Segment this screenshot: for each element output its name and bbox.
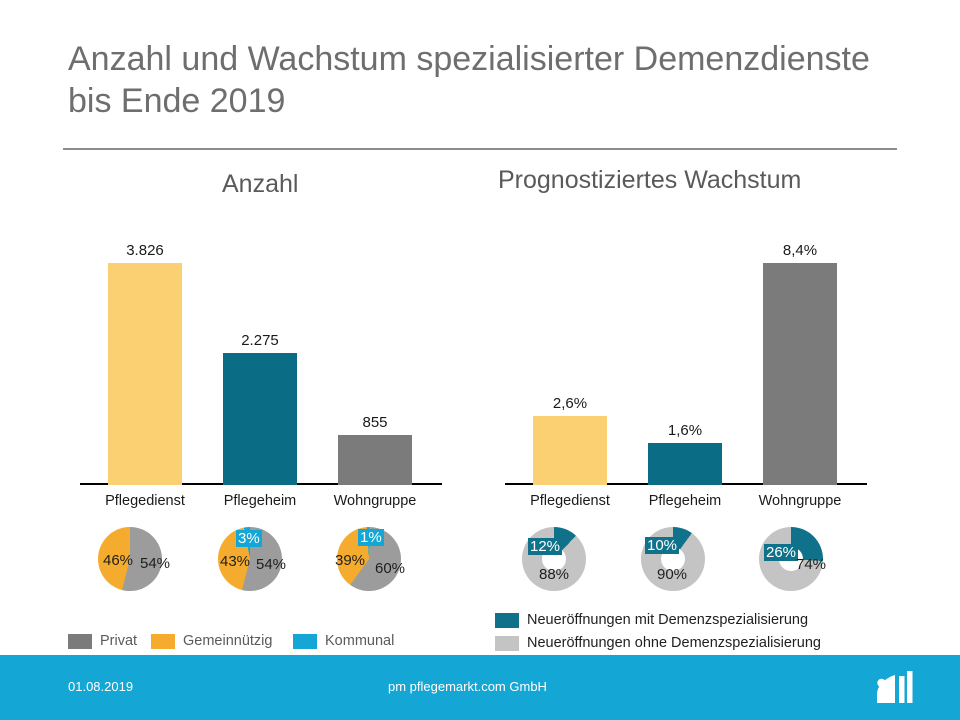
donut-label-mit-spezialisierung: 12%: [528, 538, 562, 555]
donut-label-mit-spezialisierung: 26%: [764, 544, 798, 561]
donut-label-ohne-spezialisierung: 88%: [539, 566, 569, 583]
legend-item-gemeinnuetzig[interactable]: Gemeinnützig: [151, 633, 272, 649]
chart-heading-wachstum: Prognostiziertes Wachstum: [498, 166, 801, 195]
title-divider: [63, 148, 897, 150]
bar-wohngruppe-growth[interactable]: 8,4%: [763, 215, 837, 485]
footer-company: pm pflegemarkt.com GmbH: [388, 679, 547, 694]
legend-item-mit-spezialisierung[interactable]: Neueröffnungen mit Demenzspezialisierung: [495, 612, 808, 628]
legend-label-gemeinnuetzig: Gemeinnützig: [183, 633, 272, 649]
bar-pflegedienst[interactable]: 3.826: [108, 215, 182, 485]
pie-label-privat: 60%: [375, 560, 405, 577]
bar-value-label: 3.826: [85, 242, 205, 259]
category-label-wohngruppe: Wohngruppe: [300, 493, 450, 509]
footer-date: 01.08.2019: [68, 679, 133, 694]
pie-label-privat: 54%: [140, 555, 170, 572]
pie-label-privat: 54%: [256, 556, 286, 573]
bar-value-label: 8,4%: [740, 242, 860, 259]
donut-label-ohne-spezialisierung: 90%: [657, 566, 687, 583]
pie-label-gemeinnuetzig: 39%: [335, 552, 365, 569]
legend-swatch-gemeinnuetzig: [151, 634, 175, 649]
left-bar-chart: 3.826 2.275 855 Pflegedienst Pflegeheim …: [80, 215, 450, 485]
bar-value-label: 2.275: [200, 332, 320, 349]
bar-rect: [648, 443, 722, 485]
pie-label-kommunal: 1%: [358, 529, 384, 546]
legend-swatch-mit-spezialisierung: [495, 613, 519, 628]
bar-rect: [533, 416, 607, 485]
legend-swatch-kommunal: [293, 634, 317, 649]
legend-swatch-privat: [68, 634, 92, 649]
donut-label-mit-spezialisierung: 10%: [645, 537, 679, 554]
legend-item-kommunal[interactable]: Kommunal: [293, 633, 394, 649]
legend-swatch-ohne-spezialisierung: [495, 636, 519, 651]
pie-label-gemeinnuetzig: 46%: [103, 552, 133, 569]
bar-rect: [338, 435, 412, 485]
bar-pflegeheim[interactable]: 2.275: [223, 215, 297, 485]
bar-pflegeheim-growth[interactable]: 1,6%: [648, 215, 722, 485]
legend-label-kommunal: Kommunal: [325, 633, 394, 649]
bar-pflegedienst-growth[interactable]: 2,6%: [533, 215, 607, 485]
donut-label-ohne-spezialisierung: 74%: [796, 556, 826, 573]
legend-item-ohne-spezialisierung[interactable]: Neueröffnungen ohne Demenzspezialisierun…: [495, 635, 821, 651]
bar-wohngruppe[interactable]: 855: [338, 215, 412, 485]
legend-item-privat[interactable]: Privat: [68, 633, 137, 649]
category-label-wohngruppe: Wohngruppe: [725, 493, 875, 509]
slide-root: Anzahl und Wachstum spezialisierter Deme…: [0, 0, 960, 720]
footer-bar: 01.08.2019 pm pflegemarkt.com GmbH: [0, 655, 960, 720]
bar-value-label: 855: [315, 414, 435, 431]
pie-label-kommunal: 3%: [236, 530, 262, 547]
legend-label-ohne-spezialisierung: Neueröffnungen ohne Demenzspezialisierun…: [527, 635, 821, 651]
pie-label-gemeinnuetzig: 43%: [220, 553, 250, 570]
page-title: Anzahl und Wachstum spezialisierter Deme…: [68, 38, 898, 122]
legend-label-mit-spezialisierung: Neueröffnungen mit Demenzspezialisierung: [527, 612, 808, 628]
legend-label-privat: Privat: [100, 633, 137, 649]
bar-rect: [763, 263, 837, 485]
bar-rect: [108, 263, 182, 485]
right-bar-chart: 2,6% 1,6% 8,4% Pflegedienst Pflegeheim W…: [505, 215, 875, 485]
chart-heading-anzahl: Anzahl: [222, 170, 298, 199]
bar-value-label: 2,6%: [510, 395, 630, 412]
bar-rect: [223, 353, 297, 485]
bar-value-label: 1,6%: [625, 422, 745, 439]
bar-chart-logo-icon: [874, 669, 916, 707]
